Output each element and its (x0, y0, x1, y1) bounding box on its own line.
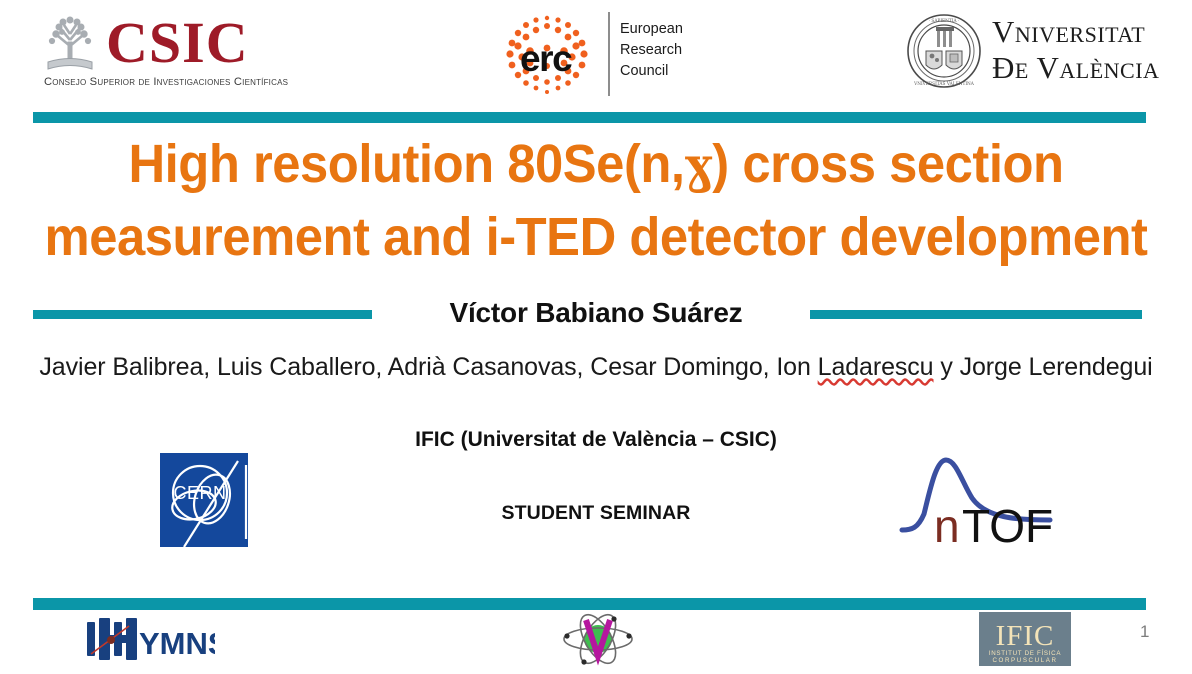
cern-logo: CERN (160, 453, 248, 547)
svg-text:YMNS: YMNS (139, 626, 215, 661)
erc-name: European Research Council (620, 19, 683, 82)
erc-name-line3: Council (620, 61, 683, 82)
ntof-resonance-curve-icon: n TOF (898, 450, 1053, 552)
slide-title-line1: High resolution 80Se(n,ɣ) cross section (36, 128, 1156, 201)
presentation-slide: CSIC Consejo Superior de Investigaciones… (0, 0, 1192, 674)
hymns-wordmark-icon: YMNS (85, 616, 215, 662)
presenter-name: Víctor Babiano Suárez (0, 297, 1192, 329)
svg-text:CORPUSCULAR: CORPUSCULAR (992, 657, 1057, 664)
ntof-tof-letters: TOF (962, 500, 1053, 552)
svg-text:IFIC: IFIC (996, 620, 1055, 652)
bottom-divider-bar (33, 598, 1146, 610)
csic-subtitle: Consejo Superior de Investigaciones Cien… (44, 76, 288, 88)
universitat-valencia-logo: · SAPIENTIA · VNIVERSITAS VALENTINA Vniv… (906, 10, 1156, 98)
cern-accelerator-icon: CERN (160, 453, 248, 547)
csic-logo: CSIC Consejo Superior de Investigaciones… (38, 12, 338, 96)
gamma-symbol: ɣ (685, 135, 713, 194)
universitat-valencia-seal-icon: · SAPIENTIA · VNIVERSITAS VALENTINA (906, 13, 982, 89)
ific-logo: IFIC INSTITUT DE FÍSICA CORPUSCULAR (979, 612, 1071, 666)
erc-name-line2: Research (620, 40, 683, 61)
top-logo-row: CSIC Consejo Superior de Investigaciones… (0, 0, 1192, 108)
erc-logo: erc European Research Council (500, 8, 700, 100)
ntof-logo: n TOF (898, 450, 1053, 552)
top-divider-bar (33, 112, 1146, 123)
svg-text:· SAPIENTIA ·: · SAPIENTIA · (929, 19, 960, 24)
universitat-valencia-wordmark: Vniversitat Ðe València (992, 14, 1159, 86)
coauthors-suffix: y Jorge Lerendegui (934, 353, 1153, 381)
coauthors-prefix: Javier Balibrea, Luis Caballero, Adrià C… (39, 353, 817, 381)
hymns-logo: YMNS (85, 616, 215, 662)
nuclear-atom-logo (560, 610, 636, 668)
slide-title-line2: measurement and i-TED detector developme… (36, 201, 1156, 273)
uv-line1: Vniversitat (992, 14, 1159, 50)
coauthor-misspelled: Ladarescu (818, 353, 934, 381)
uv-line2: Ðe València (992, 50, 1159, 86)
svg-text:VNIVERSITAS VALENTINA: VNIVERSITAS VALENTINA (913, 82, 975, 87)
atom-orbit-icon (560, 610, 636, 668)
ific-wordmark-icon: IFIC INSTITUT DE FÍSICA CORPUSCULAR (979, 612, 1071, 666)
title-line1-suffix: ) cross section (712, 134, 1063, 194)
coauthor-list: Javier Balibrea, Luis Caballero, Adrià C… (0, 353, 1192, 382)
ntof-n-letter: n (934, 500, 960, 552)
svg-text:INSTITUT DE FÍSICA: INSTITUT DE FÍSICA (989, 650, 1061, 657)
title-line1-prefix: High resolution 80Se(n, (128, 134, 684, 194)
erc-name-line1: European (620, 19, 683, 40)
svg-text:CERN: CERN (173, 483, 226, 503)
slide-title: High resolution 80Se(n,ɣ) cross section … (36, 128, 1156, 273)
csic-tree-emblem-icon (42, 16, 98, 74)
erc-divider (608, 12, 610, 96)
csic-wordmark: CSIC (106, 12, 249, 74)
erc-wordmark: erc (520, 38, 571, 80)
page-number: 1 (1140, 622, 1170, 642)
affiliation: IFIC (Universitat de València – CSIC) (0, 428, 1192, 452)
